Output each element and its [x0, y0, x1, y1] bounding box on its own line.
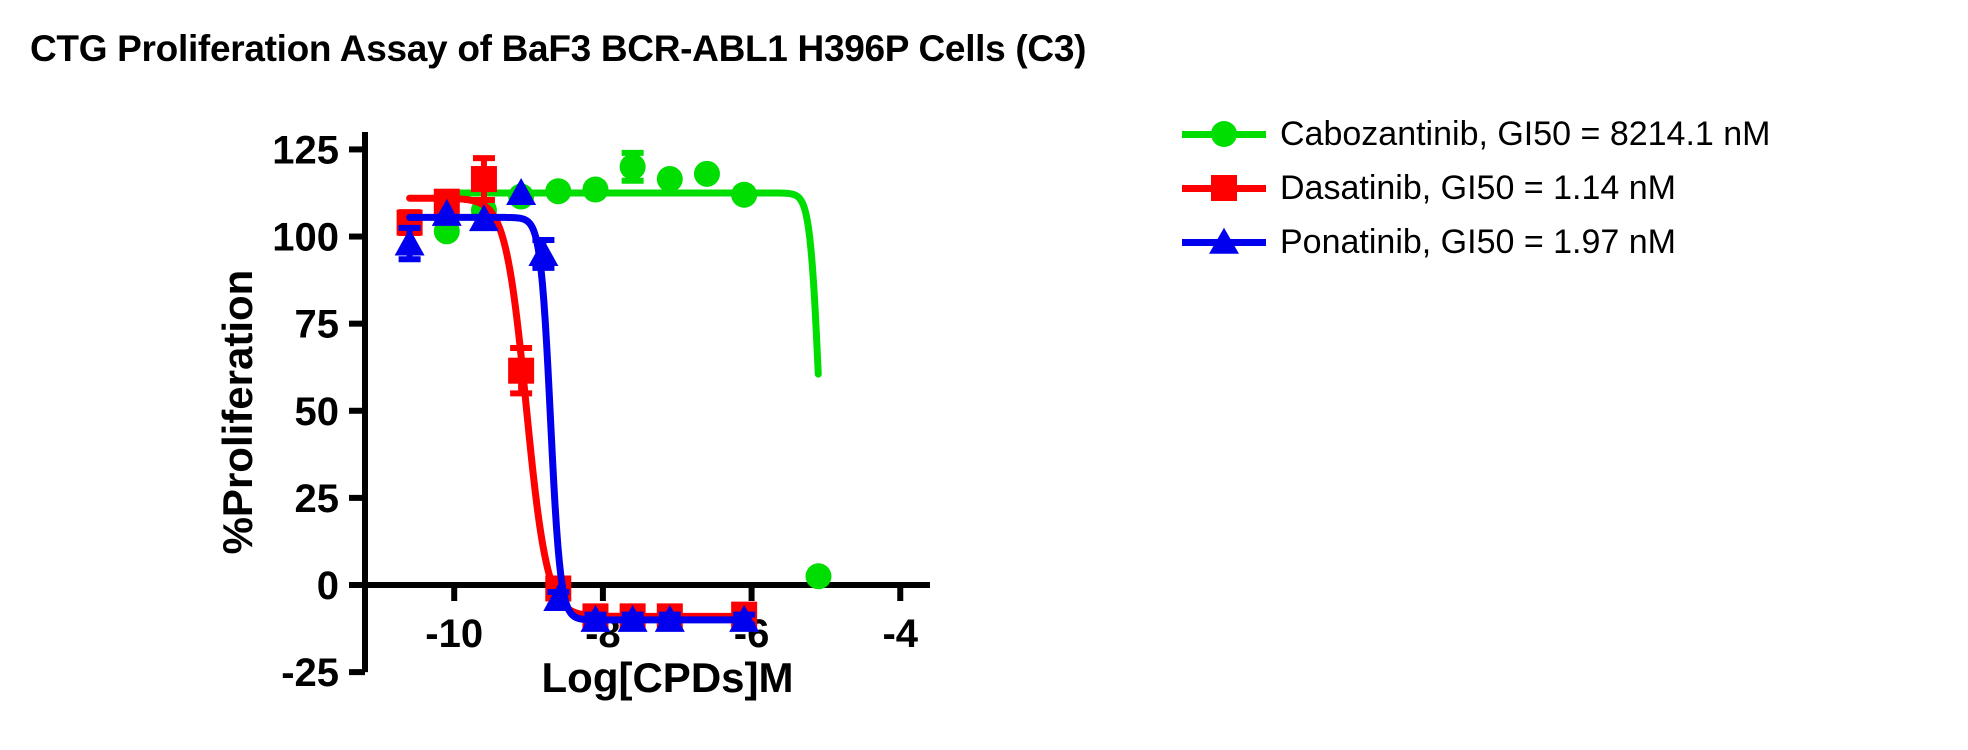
legend-label-cabozantinib: Cabozantinib, GI50 = 8214.1 nM: [1268, 115, 1771, 154]
x-tick-label: -4: [882, 612, 918, 656]
legend-label-ponatinib: Ponatinib, GI50 = 1.97 nM: [1268, 223, 1676, 262]
dose-response-plot: -250255075100125-10-8-6-4Log[CPDs]M%Prol…: [0, 90, 1000, 730]
chart-legend: Cabozantinib, GI50 = 8214.1 nM Dasatinib…: [1180, 108, 1960, 270]
data-point: [657, 166, 683, 192]
figure-root: CTG Proliferation Assay of BaF3 BCR-ABL1…: [0, 0, 1968, 750]
data-point: [471, 166, 497, 192]
legend-key-square-icon: [1180, 168, 1268, 208]
legend-key-triangle-icon: [1180, 222, 1268, 262]
data-point: [805, 563, 831, 589]
y-tick-label: 75: [295, 303, 340, 347]
y-tick-label: -25: [281, 651, 339, 695]
series-ponatinib: [395, 178, 760, 632]
legend-label-dasatinib: Dasatinib, GI50 = 1.14 nM: [1268, 169, 1676, 208]
data-point: [545, 178, 571, 204]
legend-item-dasatinib[interactable]: Dasatinib, GI50 = 1.14 nM: [1180, 162, 1960, 214]
y-tick-label: 100: [272, 216, 339, 260]
legend-key-circle-icon: [1180, 114, 1268, 154]
page-title: CTG Proliferation Assay of BaF3 BCR-ABL1…: [30, 28, 1086, 70]
data-point: [508, 358, 534, 384]
legend-item-ponatinib[interactable]: Ponatinib, GI50 = 1.97 nM: [1180, 216, 1960, 268]
data-point: [694, 161, 720, 187]
x-axis-title: Log[CPDs]M: [542, 654, 794, 701]
plot-area: -250255075100125-10-8-6-4Log[CPDs]M%Prol…: [0, 90, 1000, 730]
y-tick-label: 25: [295, 477, 340, 521]
y-axis-title: %Proliferation: [214, 270, 261, 555]
fit-curve: [410, 198, 743, 616]
data-point: [731, 182, 757, 208]
y-tick-label: 50: [295, 390, 340, 434]
legend-item-cabozantinib[interactable]: Cabozantinib, GI50 = 8214.1 nM: [1180, 108, 1960, 160]
y-tick-label: 0: [317, 564, 339, 608]
data-point: [582, 176, 608, 202]
fit-curve: [410, 217, 743, 619]
data-point: [620, 154, 646, 180]
y-tick-label: 125: [272, 128, 339, 172]
x-tick-label: -10: [425, 612, 483, 656]
y-tick-group: -250255075100125: [272, 128, 365, 695]
